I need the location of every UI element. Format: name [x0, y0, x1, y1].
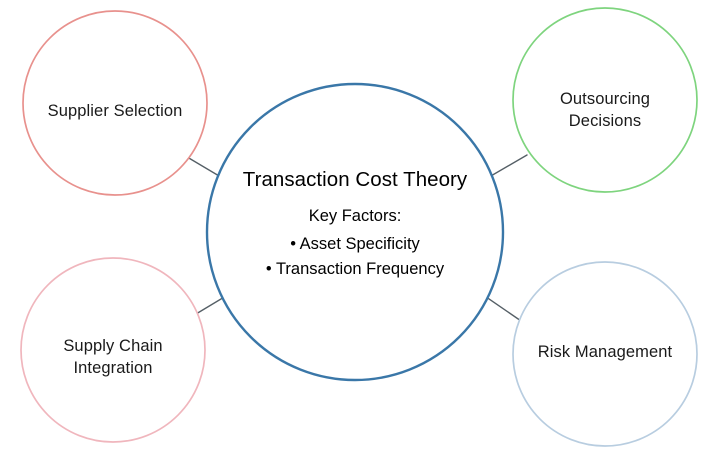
center-bullet-asset-specificity: • Asset Specificity — [207, 235, 503, 254]
center-text-block: Transaction Cost Theory Key Factors: • A… — [207, 168, 503, 279]
center-title: Transaction Cost Theory — [207, 168, 503, 192]
center-subtitle: Key Factors: — [207, 207, 503, 226]
circle-outsourcing-decisions[interactable] — [513, 8, 697, 192]
circle-supply-chain-integration[interactable] — [21, 258, 205, 442]
circle-risk-management[interactable] — [513, 262, 697, 446]
center-bullet-transaction-frequency: • Transaction Frequency — [207, 260, 503, 279]
diagram-canvas: Supplier Selection Outsourcing Decisions… — [0, 0, 720, 471]
circle-supplier-selection[interactable] — [23, 11, 207, 195]
